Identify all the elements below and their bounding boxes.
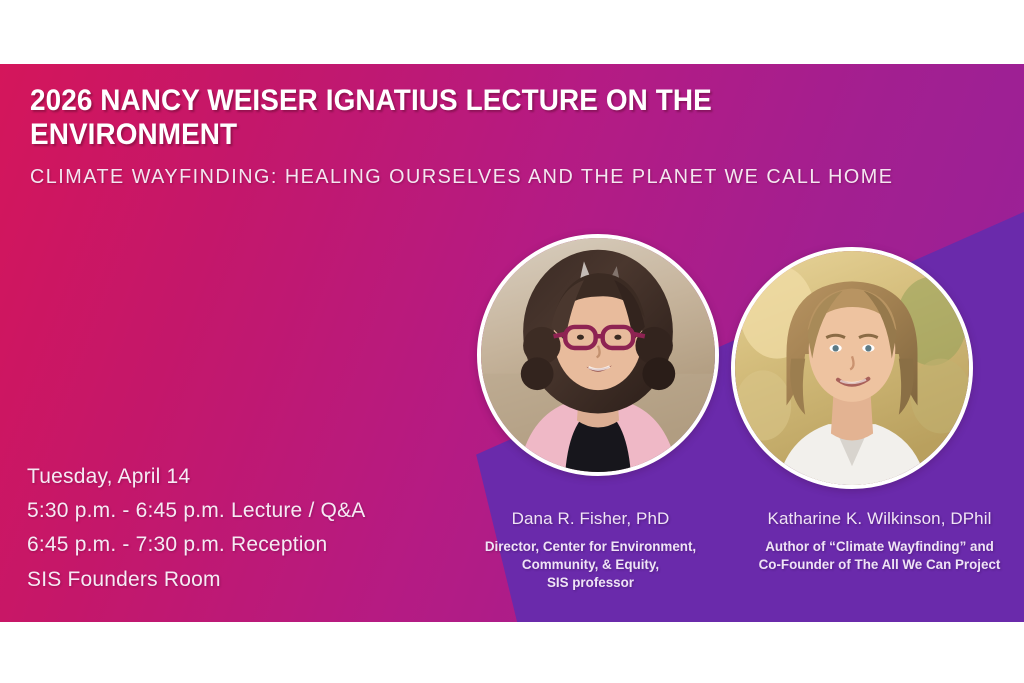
schedule-reception: 6:45 p.m. - 7:30 p.m. Reception	[27, 528, 366, 562]
speaker-role-line: Co-Founder of The All We Can Project	[759, 557, 1001, 572]
schedule-date: Tuesday, April 14	[27, 460, 366, 494]
speaker-captions: Dana R. Fisher, PhD Director, Center for…	[455, 508, 1015, 591]
headline-block: 2026 Nancy Weiser Ignatius Lecture on th…	[30, 84, 1010, 190]
speaker-block-katharine-wilkinson: Katharine K. Wilkinson, DPhil Author of …	[744, 508, 1015, 591]
speaker-role-line: Community, & Equity,	[522, 557, 659, 572]
portrait-dana-fisher	[477, 234, 719, 476]
speaker-role-line: Director, Center for Environment,	[485, 539, 696, 554]
speaker-role-line: Author of “Climate Wayfinding” and	[765, 539, 994, 554]
event-banner: 2026 Nancy Weiser Ignatius Lecture on th…	[0, 64, 1024, 622]
speaker-block-dana-fisher: Dana R. Fisher, PhD Director, Center for…	[455, 508, 726, 591]
speaker-role: Director, Center for Environment, Commun…	[455, 538, 726, 591]
page-title: 2026 Nancy Weiser Ignatius Lecture on th…	[30, 84, 872, 151]
portrait-katharine-wilkinson	[731, 247, 973, 489]
schedule-location: SIS Founders Room	[27, 563, 366, 597]
speaker-role-line: SIS professor	[547, 575, 634, 590]
speaker-name: Katharine K. Wilkinson, DPhil	[744, 508, 1015, 531]
speaker-name: Dana R. Fisher, PhD	[455, 508, 726, 531]
schedule-block: Tuesday, April 14 5:30 p.m. - 6:45 p.m. …	[27, 460, 366, 597]
speaker-role: Author of “Climate Wayfinding” and Co-Fo…	[744, 538, 1015, 574]
event-subtitle: Climate Wayfinding: Healing Ourselves an…	[30, 165, 976, 190]
schedule-lecture: 5:30 p.m. - 6:45 p.m. Lecture / Q&A	[27, 494, 366, 528]
